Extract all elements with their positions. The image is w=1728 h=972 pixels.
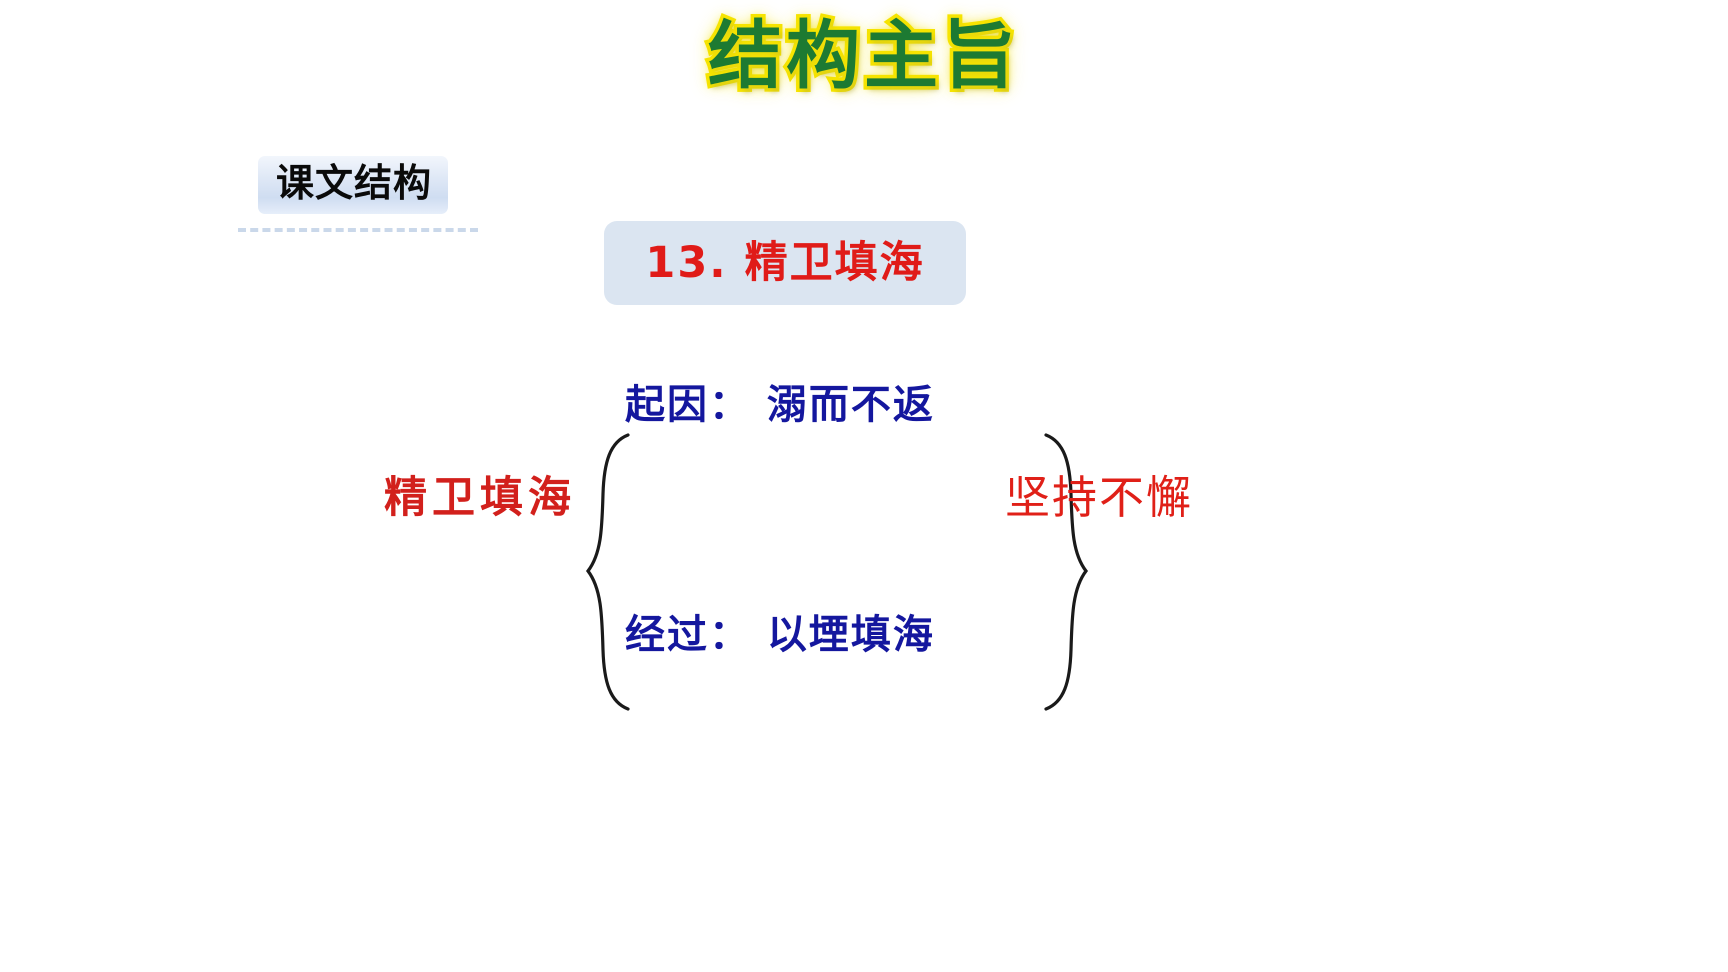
structure-diagram: 精卫填海 起因： 溺而不返 经过： 以堙填海 坚持不懈 [340,360,1280,690]
diagram-branch-cause: 起因： 溺而不返 [625,378,1005,432]
section-label-text: 课文结构 [258,156,448,214]
diagram-topic-label: 精卫填海 [360,470,600,526]
lesson-title-text: 13. 精卫填海 [645,237,924,289]
lesson-title-card: 13. 精卫填海 [604,221,966,305]
section-label-group: 课文结构 [238,150,498,246]
diagram-branch-process: 经过： 以堙填海 [625,608,1005,662]
section-underline-divider [238,228,478,236]
left-curly-brace-icon [580,432,634,712]
slide-title: 结构主旨 [0,8,1728,104]
diagram-conclusion-label: 坚持不懈 [1005,470,1255,526]
